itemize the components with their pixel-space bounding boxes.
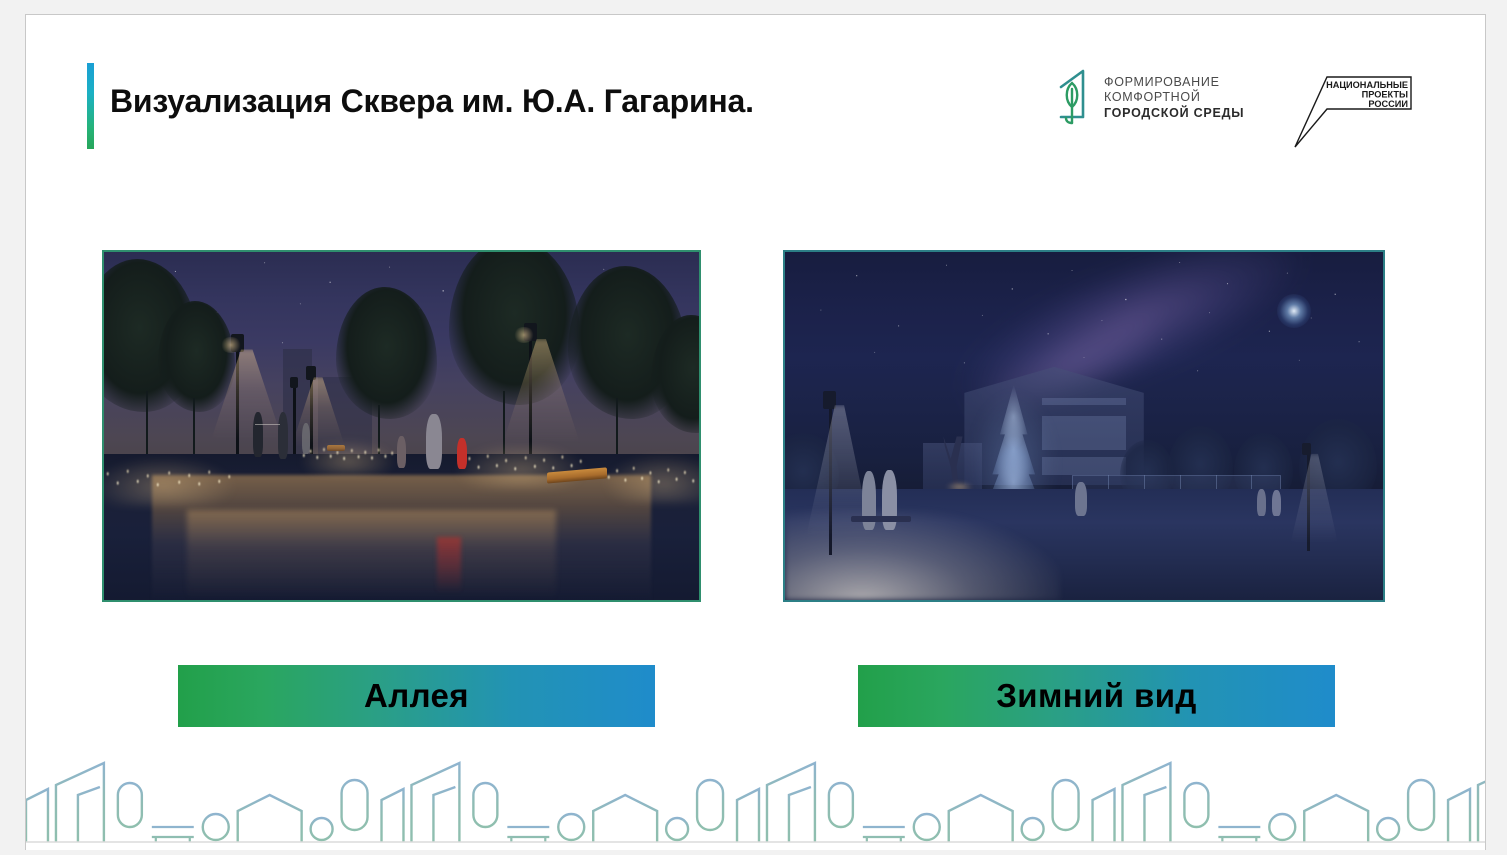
caption-label-alley: Аллея xyxy=(364,677,469,715)
caption-bar-winter[interactable]: Зимний вид xyxy=(858,665,1335,727)
comfort-environment-mark-icon xyxy=(1053,67,1093,129)
slide-header: Визуализация Сквера им. Ю.А. Гагарина. Ф… xyxy=(26,15,1485,165)
caption-label-winter: Зимний вид xyxy=(996,677,1197,715)
alley-person-child-red xyxy=(457,438,467,469)
alley-lamp-glow xyxy=(513,327,535,343)
alley-person-adult xyxy=(426,414,441,470)
winter-person-seated xyxy=(1075,482,1087,517)
alley-person-child xyxy=(397,436,406,467)
cityscape-decoration xyxy=(26,745,1485,850)
logo-national-projects: НАЦИОНАЛЬНЫЕ ПРОЕКТЫ РОССИИ xyxy=(1291,63,1416,151)
alley-red-reflection xyxy=(437,537,461,593)
logo-line-2: КОМФОРТНОЙ xyxy=(1104,90,1244,105)
visualization-card-alley xyxy=(102,250,701,602)
winter-bench xyxy=(851,516,911,522)
winter-lamp-head xyxy=(1302,443,1311,455)
winter-person xyxy=(1257,489,1266,517)
alley-lamp-head xyxy=(290,377,298,388)
alley-person xyxy=(302,423,310,454)
alley-person-arm xyxy=(255,424,281,425)
logo-line-3: ГОРОДСКОЙ СРЕДЫ xyxy=(1104,106,1244,121)
winter-render-image xyxy=(785,252,1383,600)
slide-canvas: Визуализация Сквера им. Ю.А. Гагарина. Ф… xyxy=(25,14,1486,850)
alley-tree xyxy=(449,252,580,405)
alley-bench xyxy=(327,445,345,451)
np-line-3: РОССИИ xyxy=(1368,99,1408,109)
alley-flowerbed xyxy=(300,440,395,468)
alley-flowerbed xyxy=(604,454,699,496)
page-title: Визуализация Сквера им. Ю.А. Гагарина. xyxy=(110,83,754,120)
alley-flowerbed xyxy=(104,457,235,499)
alley-render-image xyxy=(104,252,699,600)
winter-image-frame xyxy=(783,250,1385,602)
logo-line-1: ФОРМИРОВАНИЕ xyxy=(1104,75,1244,90)
bright-star xyxy=(1277,294,1311,328)
np-line-1: НАЦИОНАЛЬНЫЕ xyxy=(1326,80,1408,90)
logo-comfort-urban-environment: ФОРМИРОВАНИЕ КОМФОРТНОЙ ГОРОДСКОЙ СРЕДЫ xyxy=(1053,67,1244,129)
visualization-card-winter xyxy=(783,250,1385,602)
alley-person xyxy=(253,412,263,457)
comfort-environment-wordmark: ФОРМИРОВАНИЕ КОМФОРТНОЙ ГОРОДСКОЙ СРЕДЫ xyxy=(1104,75,1244,121)
title-accent-bar xyxy=(87,63,94,149)
caption-bar-alley[interactable]: Аллея xyxy=(178,665,655,727)
alley-person xyxy=(278,412,289,459)
alley-image-frame xyxy=(102,250,701,602)
alley-wet-reflection xyxy=(187,510,556,600)
winter-lamp-head xyxy=(823,391,836,409)
winter-person xyxy=(1272,490,1281,516)
np-line-2: ПРОЕКТЫ xyxy=(1362,90,1408,100)
